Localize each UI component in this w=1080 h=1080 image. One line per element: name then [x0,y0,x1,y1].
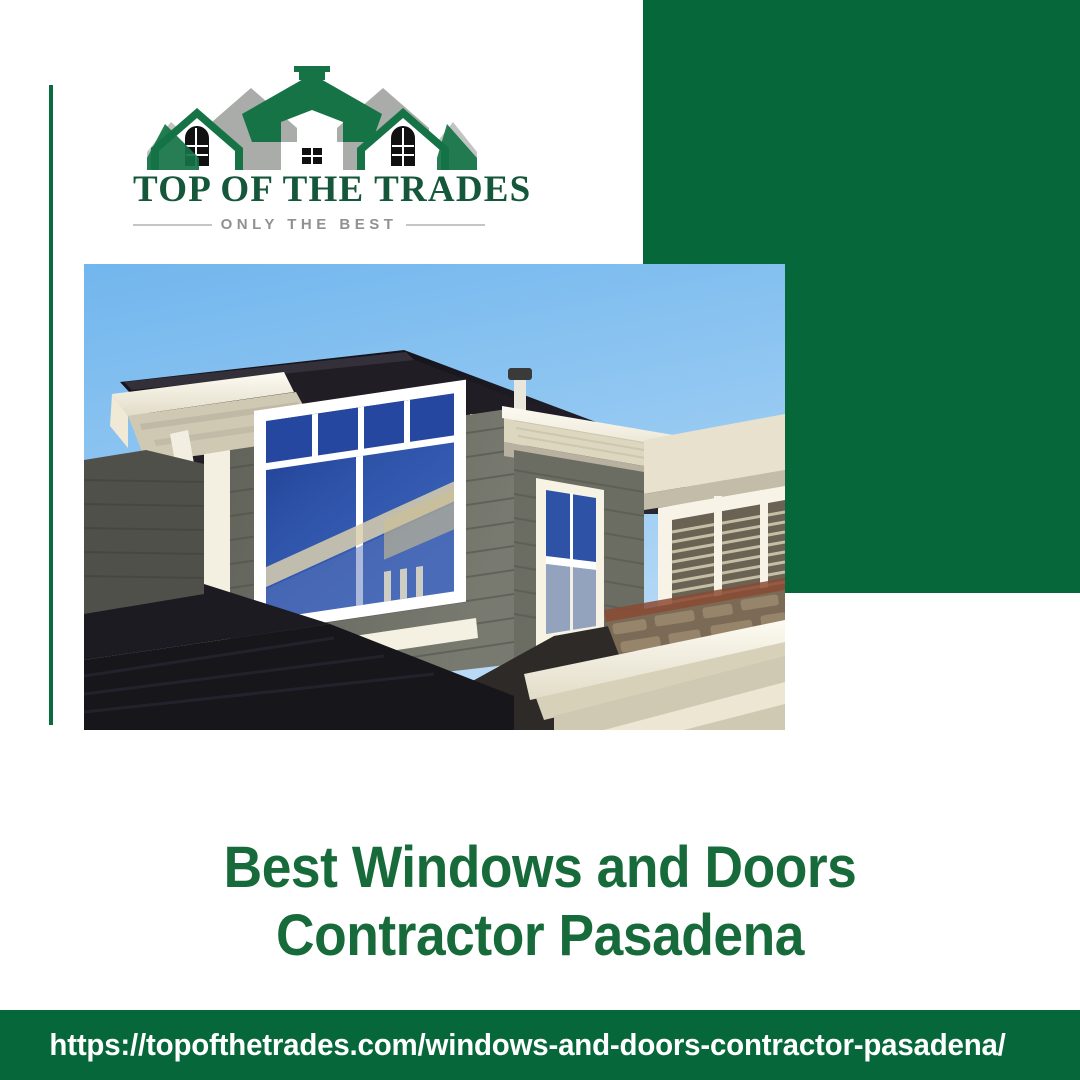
house-exterior-photo [84,264,785,730]
footer-url-bar: https://topofthetrades.com/windows-and-d… [0,1010,1080,1080]
logo-wordmark: TOP OF THE TRADES [133,171,485,208]
logo-tagline: ONLY THE BEST [221,216,398,233]
website-url-link[interactable]: https://topofthetrades.com/windows-and-d… [0,1027,1006,1063]
headline-line-1: Best Windows and Doors [43,834,1037,902]
logo-tagline-row: ONLY THE BEST [133,216,485,233]
brand-logo[interactable]: TOP OF THE TRADES ONLY THE BEST [133,66,485,231]
social-post-canvas: TOP OF THE TRADES ONLY THE BEST [0,0,1080,1080]
tagline-rule-right [406,224,485,226]
headline-line-2: Contractor Pasadena [43,902,1037,970]
page-title: Best Windows and Doors Contractor Pasade… [43,834,1037,971]
left-vertical-accent-rule [49,85,53,725]
houses-roofline-icon [147,66,477,174]
tagline-rule-left [133,224,212,226]
